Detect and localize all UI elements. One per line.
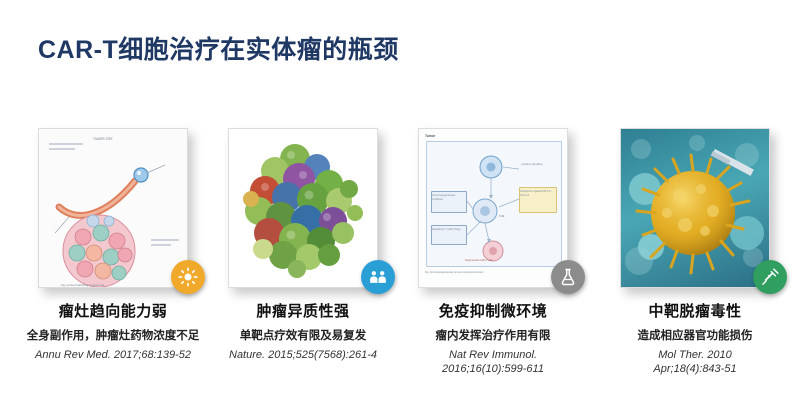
card-3-frame: Tumor Immunosuppressive cytokines Regula… — [418, 128, 568, 288]
card-2[interactable] — [228, 128, 378, 288]
card-3[interactable]: Tumor Immunosuppressive cytokines Regula… — [418, 128, 568, 288]
caption-2-subtitle: 单靶点疗效有限及易复发 — [193, 327, 413, 343]
caption-4: 中靶脱瘤毒性 造成相应器官功能损伤 Mol Ther. 2010 Apr;18(… — [585, 300, 805, 377]
card-4[interactable] — [620, 128, 770, 288]
immunosuppressive-microenvironment-pathway-diagram: Tumor Immunosuppressive cytokines Regula… — [419, 129, 567, 287]
slide-root: CAR-T细胞治疗在实体瘤的瓶颈 TUMOR SITE — [0, 0, 809, 413]
cancer-cell-micrograph-sem-image — [621, 129, 769, 287]
syringe-icon — [753, 260, 787, 294]
caption-3-reference: Nat Rev Immunol. 2016;16(10):599-611 — [383, 348, 603, 377]
caption-3-heading: 免疫抑制微环境 — [383, 300, 603, 321]
caption-1-reference: Annu Rev Med. 2017;68:139-52 — [3, 348, 223, 362]
sun-icon — [171, 260, 205, 294]
caption-1-heading: 瘤灶趋向能力弱 — [3, 300, 223, 321]
card-2-frame — [228, 128, 378, 288]
card-1[interactable]: TUMOR SITE — [38, 128, 188, 288]
card-4-frame — [620, 128, 770, 288]
tumor-lesion-diagram-figure: TUMOR SITE — [39, 129, 187, 287]
caption-2-heading: 肿瘤异质性强 — [193, 300, 413, 321]
caption-3: 免疫抑制微环境 瘤内发挥治疗作用有限 Nat Rev Immunol. 2016… — [383, 300, 603, 377]
card-image-row: TUMOR SITE — [0, 128, 809, 288]
caption-3-subtitle: 瘤内发挥治疗作用有限 — [383, 327, 603, 343]
caption-4-subtitle: 造成相应器官功能损伤 — [585, 327, 805, 343]
page-title: CAR-T细胞治疗在实体瘤的瓶颈 — [38, 30, 399, 66]
caption-1: 瘤灶趋向能力弱 全身副作用，肿瘤灶药物浓度不足 Annu Rev Med. 20… — [3, 300, 223, 362]
caption-4-heading: 中靶脱瘤毒性 — [585, 300, 805, 321]
flask-icon — [551, 260, 585, 294]
caption-2: 肿瘤异质性强 单靶点疗效有限及易复发 Nature. 2015;525(7568… — [193, 300, 413, 362]
caption-1-subtitle: 全身副作用，肿瘤灶药物浓度不足 — [3, 327, 223, 343]
heterogeneous-tumor-cell-cluster-image — [229, 129, 377, 287]
caption-2-reference: Nature. 2015;525(7568):261-4 — [193, 348, 413, 362]
people-group-icon — [361, 260, 395, 294]
caption-4-reference: Mol Ther. 2010 Apr;18(4):843-51 — [585, 348, 805, 377]
card-1-frame: TUMOR SITE — [38, 128, 188, 288]
